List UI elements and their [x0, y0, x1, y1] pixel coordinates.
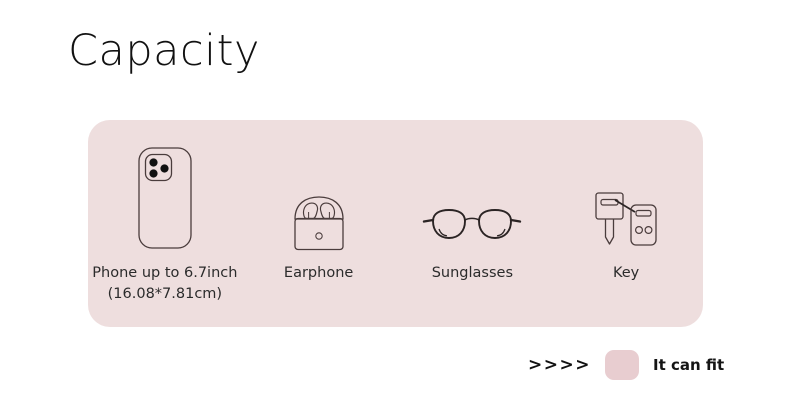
earphone-case-icon [284, 194, 354, 252]
legend-arrows-icon: >>>> [528, 355, 591, 375]
capacity-item-earphone-label: Earphone [284, 263, 353, 284]
capacity-item-key-label: Key [613, 263, 639, 284]
phone-icon-wrap [133, 134, 197, 252]
capacity-item-phone-label: Phone up to 6.7inch (16.08*7.81cm) [92, 263, 237, 305]
legend-color-swatch [605, 350, 639, 380]
capacity-item-key: Key [549, 134, 703, 284]
capacity-item-earphone: Earphone [242, 134, 396, 284]
sunglasses-icon-wrap [420, 134, 524, 252]
capacity-items-row: Phone up to 6.7inch (16.08*7.81cm) [88, 120, 703, 327]
capacity-item-sunglasses: Sunglasses [396, 134, 550, 284]
key-icon-wrap [591, 134, 661, 252]
legend: >>>> It can fit [528, 350, 724, 380]
capacity-item-phone: Phone up to 6.7inch (16.08*7.81cm) [88, 134, 242, 305]
earphone-case-icon-wrap [284, 134, 354, 252]
key-icon [591, 190, 661, 252]
capacity-panel: Phone up to 6.7inch (16.08*7.81cm) [88, 120, 703, 327]
page-title: Capacity [68, 28, 260, 75]
phone-icon [133, 144, 197, 252]
legend-label: It can fit [653, 356, 724, 374]
capacity-item-sunglasses-label: Sunglasses [432, 263, 513, 284]
sunglasses-icon [420, 204, 524, 252]
